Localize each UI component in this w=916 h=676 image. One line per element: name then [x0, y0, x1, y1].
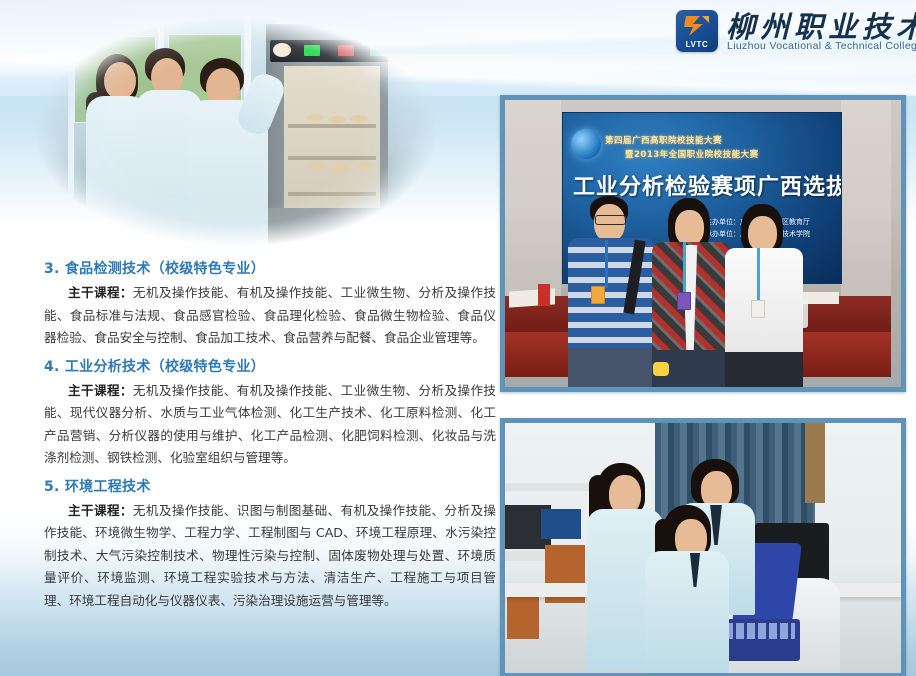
incubator-led-green: [370, 45, 386, 56]
instrument-keypad: [725, 623, 795, 639]
computer-monitor: [541, 509, 581, 539]
section-body-label: 主干课程：: [68, 503, 133, 518]
program-section-environmental-engineering: 5. 环境工程技术 主干课程：无机及操作技能、识图与制图基础、有机及操作技能、分…: [44, 476, 496, 613]
incubator-shelf: [288, 192, 376, 196]
id-badge: [677, 292, 691, 310]
person-head: [675, 210, 704, 246]
incubator-shelf: [288, 124, 376, 128]
program-descriptions: 3. 食品检测技术（校级特色专业） 主干课程：无机及操作技能、有机及操作技能、工…: [44, 258, 496, 618]
lanyard: [605, 240, 608, 288]
id-badge: [751, 300, 765, 318]
section-number: 5.: [44, 479, 60, 495]
banner-subtitle-line-2: 暨2013年全国职业院校技能大赛: [625, 148, 835, 160]
incubator-shelf: [288, 156, 376, 160]
wall-board: [805, 423, 825, 503]
section-title-text: 食品检测技术（校级特色专业）: [65, 261, 265, 277]
lanyard: [683, 242, 686, 294]
program-section-food-testing: 3. 食品检测技术（校级特色专业） 主干课程：无机及操作技能、有机及操作技能、工…: [44, 258, 496, 350]
petri-dish: [356, 162, 374, 169]
wall-panel: [505, 100, 561, 296]
section-title-text: 环境工程技术: [65, 479, 151, 495]
petri-dish: [350, 115, 368, 122]
section-body-text: 无机及操作技能、识图与制图基础、有机及操作技能、分析及操作技能、环境微生物学、工…: [44, 503, 496, 608]
wall-panel: [841, 100, 891, 296]
section-title-text: 工业分析技术（校级特色专业）: [65, 359, 265, 375]
section-body: 主干课程：无机及操作技能、有机及操作技能、工业微生物、分析及操作技能、现代仪器分…: [44, 380, 496, 470]
wall-shelf: [505, 483, 591, 491]
section-title: 4. 工业分析技术（校级特色专业）: [44, 356, 496, 376]
dark-trousers: [725, 352, 803, 387]
petri-dish: [306, 114, 324, 121]
petri-dish: [328, 116, 346, 123]
incubator-led-green: [304, 45, 320, 56]
college-logo-block: LVTC 柳州职业技术学院 Liuzhou Vocational & Techn…: [676, 6, 911, 56]
wooden-stool: [507, 591, 539, 639]
section-number: 3.: [44, 261, 60, 277]
banner-globe-emblem: [571, 129, 601, 159]
photo-competition-team: 第四届广西高职院校技能大赛 暨2013年全国职业院校技能大赛 工业分析检验赛项广…: [500, 95, 906, 392]
lanyard: [757, 248, 760, 302]
lab-coat: [645, 551, 729, 673]
person-head: [748, 216, 777, 252]
section-body: 主干课程：无机及操作技能、有机及操作技能、工业微生物、分析及操作技能、食品标准与…: [44, 282, 496, 350]
lvtc-logo-mark: LVTC: [676, 10, 718, 52]
brochure-page: 第四届广西高职院校技能大赛 暨2013年全国职业院校技能大赛 工业分析检验赛项广…: [0, 0, 916, 676]
petri-dish: [332, 164, 350, 171]
photo-instrument-analysis-lab: [500, 418, 906, 676]
jeans: [568, 348, 654, 387]
banner-subtitle-line-1: 第四届广西高职院校技能大赛: [605, 134, 835, 146]
yellow-object: [653, 362, 669, 376]
program-section-industrial-analysis: 4. 工业分析技术（校级特色专业） 主干课程：无机及操作技能、有机及操作技能、工…: [44, 356, 496, 470]
section-body-label: 主干课程：: [68, 383, 133, 398]
section-title: 5. 环境工程技术: [44, 476, 496, 496]
lightning-bolt-icon: [683, 15, 711, 37]
incubator-led-red: [338, 45, 354, 56]
logo-mark-text: LVTC: [676, 40, 718, 49]
section-title: 3. 食品检测技术（校级特色专业）: [44, 258, 496, 278]
held-petri-dish: [273, 43, 291, 57]
petri-dish: [308, 162, 326, 169]
person-head: [104, 62, 136, 100]
lab-frame-rail: [8, 14, 463, 20]
id-badge: [591, 286, 605, 304]
table-flag: [538, 284, 550, 306]
section-number: 4.: [44, 359, 60, 375]
eyeglasses: [595, 215, 626, 225]
hero-photo-microbiology-lab: [8, 0, 463, 268]
college-name-en: Liuzhou Vocational & Technical College: [727, 40, 916, 52]
section-body-label: 主干课程：: [68, 285, 133, 300]
section-body: 主干课程：无机及操作技能、识图与制图基础、有机及操作技能、分析及操作技能、环境微…: [44, 500, 496, 613]
